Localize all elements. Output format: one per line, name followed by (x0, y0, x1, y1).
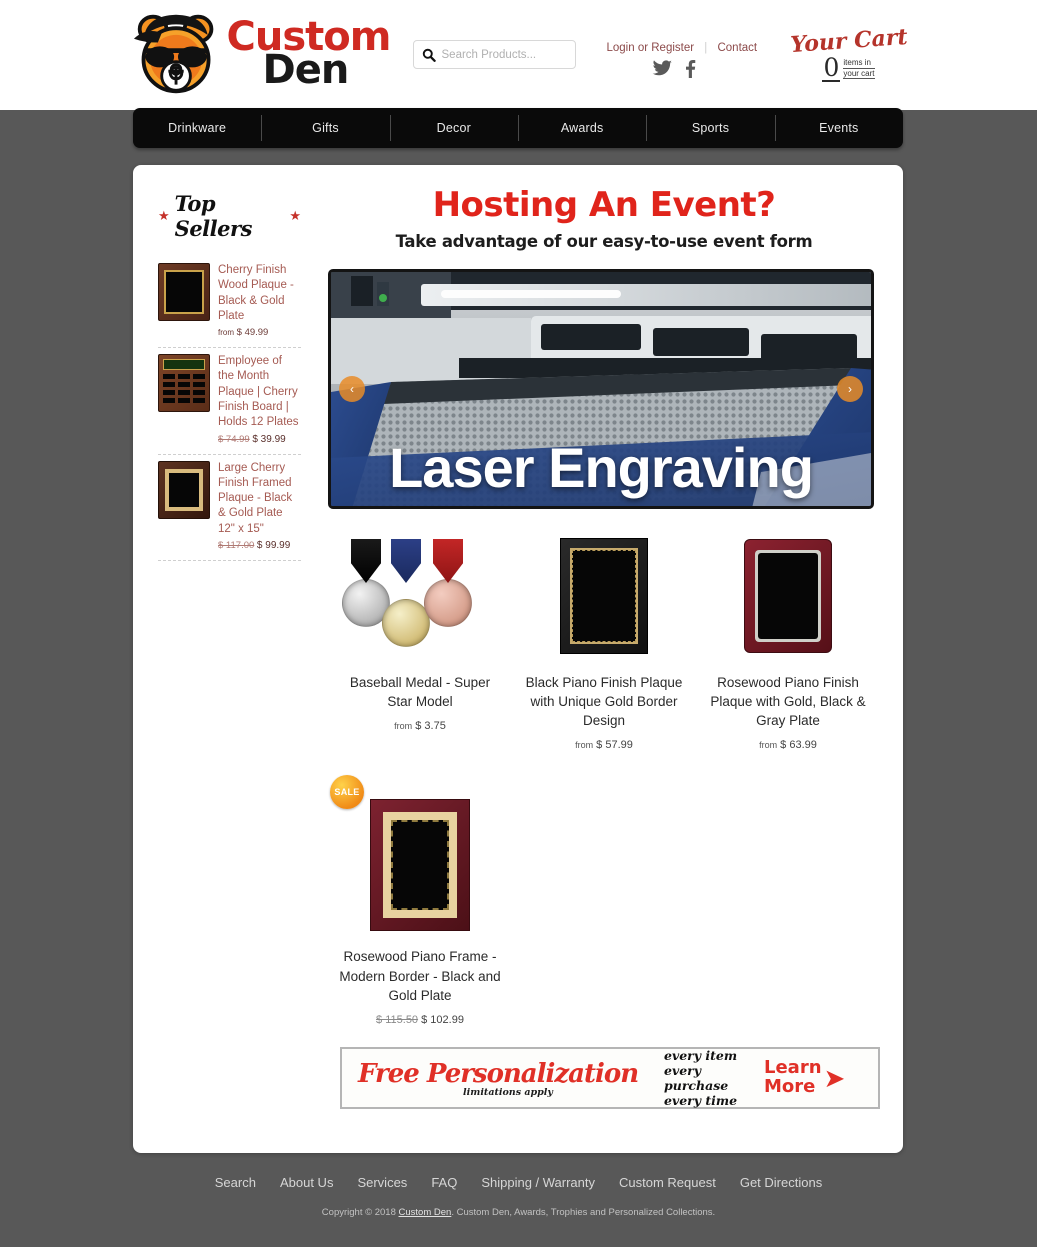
footer-link-about-us[interactable]: About Us (280, 1175, 333, 1190)
learn-more-button[interactable]: Learn More ➤ (764, 1059, 862, 1097)
product-card[interactable]: SALE Rosewood Piano Frame - Modern Borde… (328, 773, 512, 1047)
site-logo[interactable]: Custom Den (129, 10, 391, 98)
nav-item-sports[interactable]: Sports (646, 108, 774, 148)
list-item-title[interactable]: Employee of the Month Plaque | Cherry Fi… (218, 354, 301, 430)
copyright-brand-link[interactable]: Custom Den (399, 1207, 452, 1218)
facebook-icon[interactable] (685, 60, 696, 83)
promo-benefit-2: every purchase (664, 1063, 764, 1094)
price-old: $ 117.00 (218, 540, 254, 551)
price-value: $ 39.99 (252, 434, 285, 445)
price-value: $ 3.75 (415, 720, 446, 732)
footer-link-shipping-warranty[interactable]: Shipping / Warranty (481, 1175, 595, 1190)
list-item-price: from $ 49.99 (218, 327, 301, 338)
copyright-notice: Copyright © 2018 Custom Den. Custom Den,… (0, 1207, 1037, 1218)
top-sellers-sidebar: ★ Top Sellers ★ Cherry Finish Wood Plaqu… (158, 185, 301, 561)
copyright-prefix: Copyright © 2018 (322, 1207, 399, 1218)
black-piano-finish-plaque-image (560, 538, 648, 654)
footer-links: Search About Us Services FAQ Shipping / … (0, 1175, 1037, 1190)
nav-item-events[interactable]: Events (775, 108, 903, 148)
nav-item-decor[interactable]: Decor (390, 108, 518, 148)
footer-link-get-directions[interactable]: Get Directions (740, 1175, 822, 1190)
cart-widget[interactable]: Your Cart 0 items in your cart (789, 28, 909, 82)
promo-benefit-3: every time (664, 1093, 764, 1108)
footer-link-search[interactable]: Search (215, 1175, 256, 1190)
price-from-label: from (218, 328, 234, 337)
promo-left: Free Personalization limitations apply (358, 1059, 658, 1098)
price-old: $ 74.99 (218, 434, 250, 445)
product-card[interactable]: Baseball Medal - Super Star Model from $… (328, 525, 512, 773)
hero-slider[interactable]: Laser Engraving ‹ › (328, 269, 874, 509)
search-box[interactable] (413, 40, 576, 69)
search-input[interactable] (442, 49, 570, 61)
price-value: $ 49.99 (237, 327, 269, 338)
list-item[interactable]: Large Cherry Finish Framed Plaque - Blac… (158, 455, 301, 561)
list-item[interactable]: Employee of the Month Plaque | Cherry Fi… (158, 348, 301, 454)
list-item-price: $ 117.00 $ 99.99 (218, 540, 301, 551)
product-price: $ 115.50 $ 102.99 (338, 1014, 502, 1026)
search-icon (422, 48, 436, 62)
cart-title: Your Cart (788, 24, 910, 58)
cart-label: items in your cart (843, 58, 874, 79)
top-sellers-title: Top Sellers (175, 191, 285, 241)
price-from-label: from (575, 740, 593, 750)
hero-banner: Hosting An Event? Take advantage of our … (328, 173, 880, 509)
page-root: Custom Den Login or Register | Contact (0, 0, 1037, 1247)
slider-caption: Laser Engraving (331, 435, 871, 500)
star-icon: ★ (289, 208, 301, 224)
price-value: $ 63.99 (780, 739, 817, 751)
slider-prev-arrow-icon[interactable]: ‹ (339, 376, 365, 402)
price-from-label: from (759, 740, 777, 750)
contact-link[interactable]: Contact (717, 42, 757, 54)
cherry-finish-wood-plaque-thumb (158, 263, 210, 321)
free-personalization-banner[interactable]: Free Personalization limitations apply e… (340, 1047, 880, 1109)
price-value: $ 57.99 (596, 739, 633, 751)
login-or-register-link[interactable]: Login or Register (607, 42, 695, 54)
site-header: Custom Den Login or Register | Contact (0, 0, 1037, 110)
product-card[interactable]: Rosewood Piano Finish Plaque with Gold, … (696, 525, 880, 773)
product-card[interactable]: Black Piano Finish Plaque with Unique Go… (512, 525, 696, 773)
rosewood-piano-finish-plaque-image (744, 539, 832, 653)
top-sellers-heading: ★ Top Sellers ★ (158, 185, 301, 241)
learn-more-label: Learn More (764, 1059, 822, 1097)
product-grid: Baseball Medal - Super Star Model from $… (328, 525, 880, 1048)
footer-link-faq[interactable]: FAQ (431, 1175, 457, 1190)
price-from-label: from (394, 721, 412, 731)
nav-item-awards[interactable]: Awards (518, 108, 646, 148)
large-cherry-framed-plaque-thumb (158, 461, 210, 519)
product-title[interactable]: Baseball Medal - Super Star Model (338, 673, 502, 711)
promo-benefit-1: every item (664, 1048, 764, 1063)
social-links (651, 60, 696, 83)
star-icon: ★ (158, 208, 170, 224)
price-value: $ 102.99 (421, 1014, 464, 1026)
list-item-title[interactable]: Large Cherry Finish Framed Plaque - Blac… (218, 461, 301, 537)
promo-title: Free Personalization (358, 1059, 658, 1089)
product-price: from $ 57.99 (522, 739, 686, 751)
bear-mascot-logo-icon (129, 10, 225, 98)
product-title[interactable]: Black Piano Finish Plaque with Unique Go… (522, 673, 686, 730)
employee-of-the-month-plaque-thumb (158, 354, 210, 412)
main-content-card: ★ Top Sellers ★ Cherry Finish Wood Plaqu… (133, 165, 903, 1153)
account-links: Login or Register | Contact (607, 42, 758, 54)
baseball-medals-image (351, 537, 489, 655)
nav-item-drinkware[interactable]: Drinkware (133, 108, 261, 148)
logo-wordmark: Custom Den (227, 21, 391, 87)
list-item-price: $ 74.99 $ 39.99 (218, 434, 301, 445)
copyright-suffix: . Custom Den, Awards, Trophies and Perso… (451, 1207, 715, 1218)
hero-headline: Hosting An Event? (328, 173, 880, 226)
footer-link-custom-request[interactable]: Custom Request (619, 1175, 716, 1190)
list-item[interactable]: Cherry Finish Wood Plaque - Black & Gold… (158, 257, 301, 348)
arrow-right-icon: ➤ (824, 1065, 846, 1091)
promo-benefits: every item every purchase every time (658, 1048, 764, 1109)
main-navigation: Drinkware Gifts Decor Awards Sports Even… (133, 108, 903, 148)
nav-item-gifts[interactable]: Gifts (261, 108, 389, 148)
list-item-title[interactable]: Cherry Finish Wood Plaque - Black & Gold… (218, 263, 301, 324)
rosewood-piano-frame-image (370, 799, 470, 931)
twitter-icon[interactable] (651, 60, 673, 83)
site-footer: Search About Us Services FAQ Shipping / … (0, 1175, 1037, 1218)
product-price: from $ 63.99 (706, 739, 870, 751)
learn-more-line2: More (764, 1078, 822, 1097)
account-links-divider: | (697, 42, 714, 54)
product-title[interactable]: Rosewood Piano Frame - Modern Border - B… (338, 947, 502, 1004)
cart-label-line2: your cart (843, 69, 874, 79)
footer-link-services[interactable]: Services (357, 1175, 407, 1190)
slider-next-arrow-icon[interactable]: › (837, 376, 863, 402)
cart-label-line1: items in (843, 58, 874, 68)
product-price: from $ 3.75 (338, 720, 502, 732)
product-title[interactable]: Rosewood Piano Finish Plaque with Gold, … (706, 673, 870, 730)
cart-item-count: 0 (822, 56, 840, 82)
hero-subheadline: Take advantage of our easy-to-use event … (328, 232, 880, 251)
price-value: $ 99.99 (257, 540, 290, 551)
price-old: $ 115.50 (376, 1014, 418, 1026)
